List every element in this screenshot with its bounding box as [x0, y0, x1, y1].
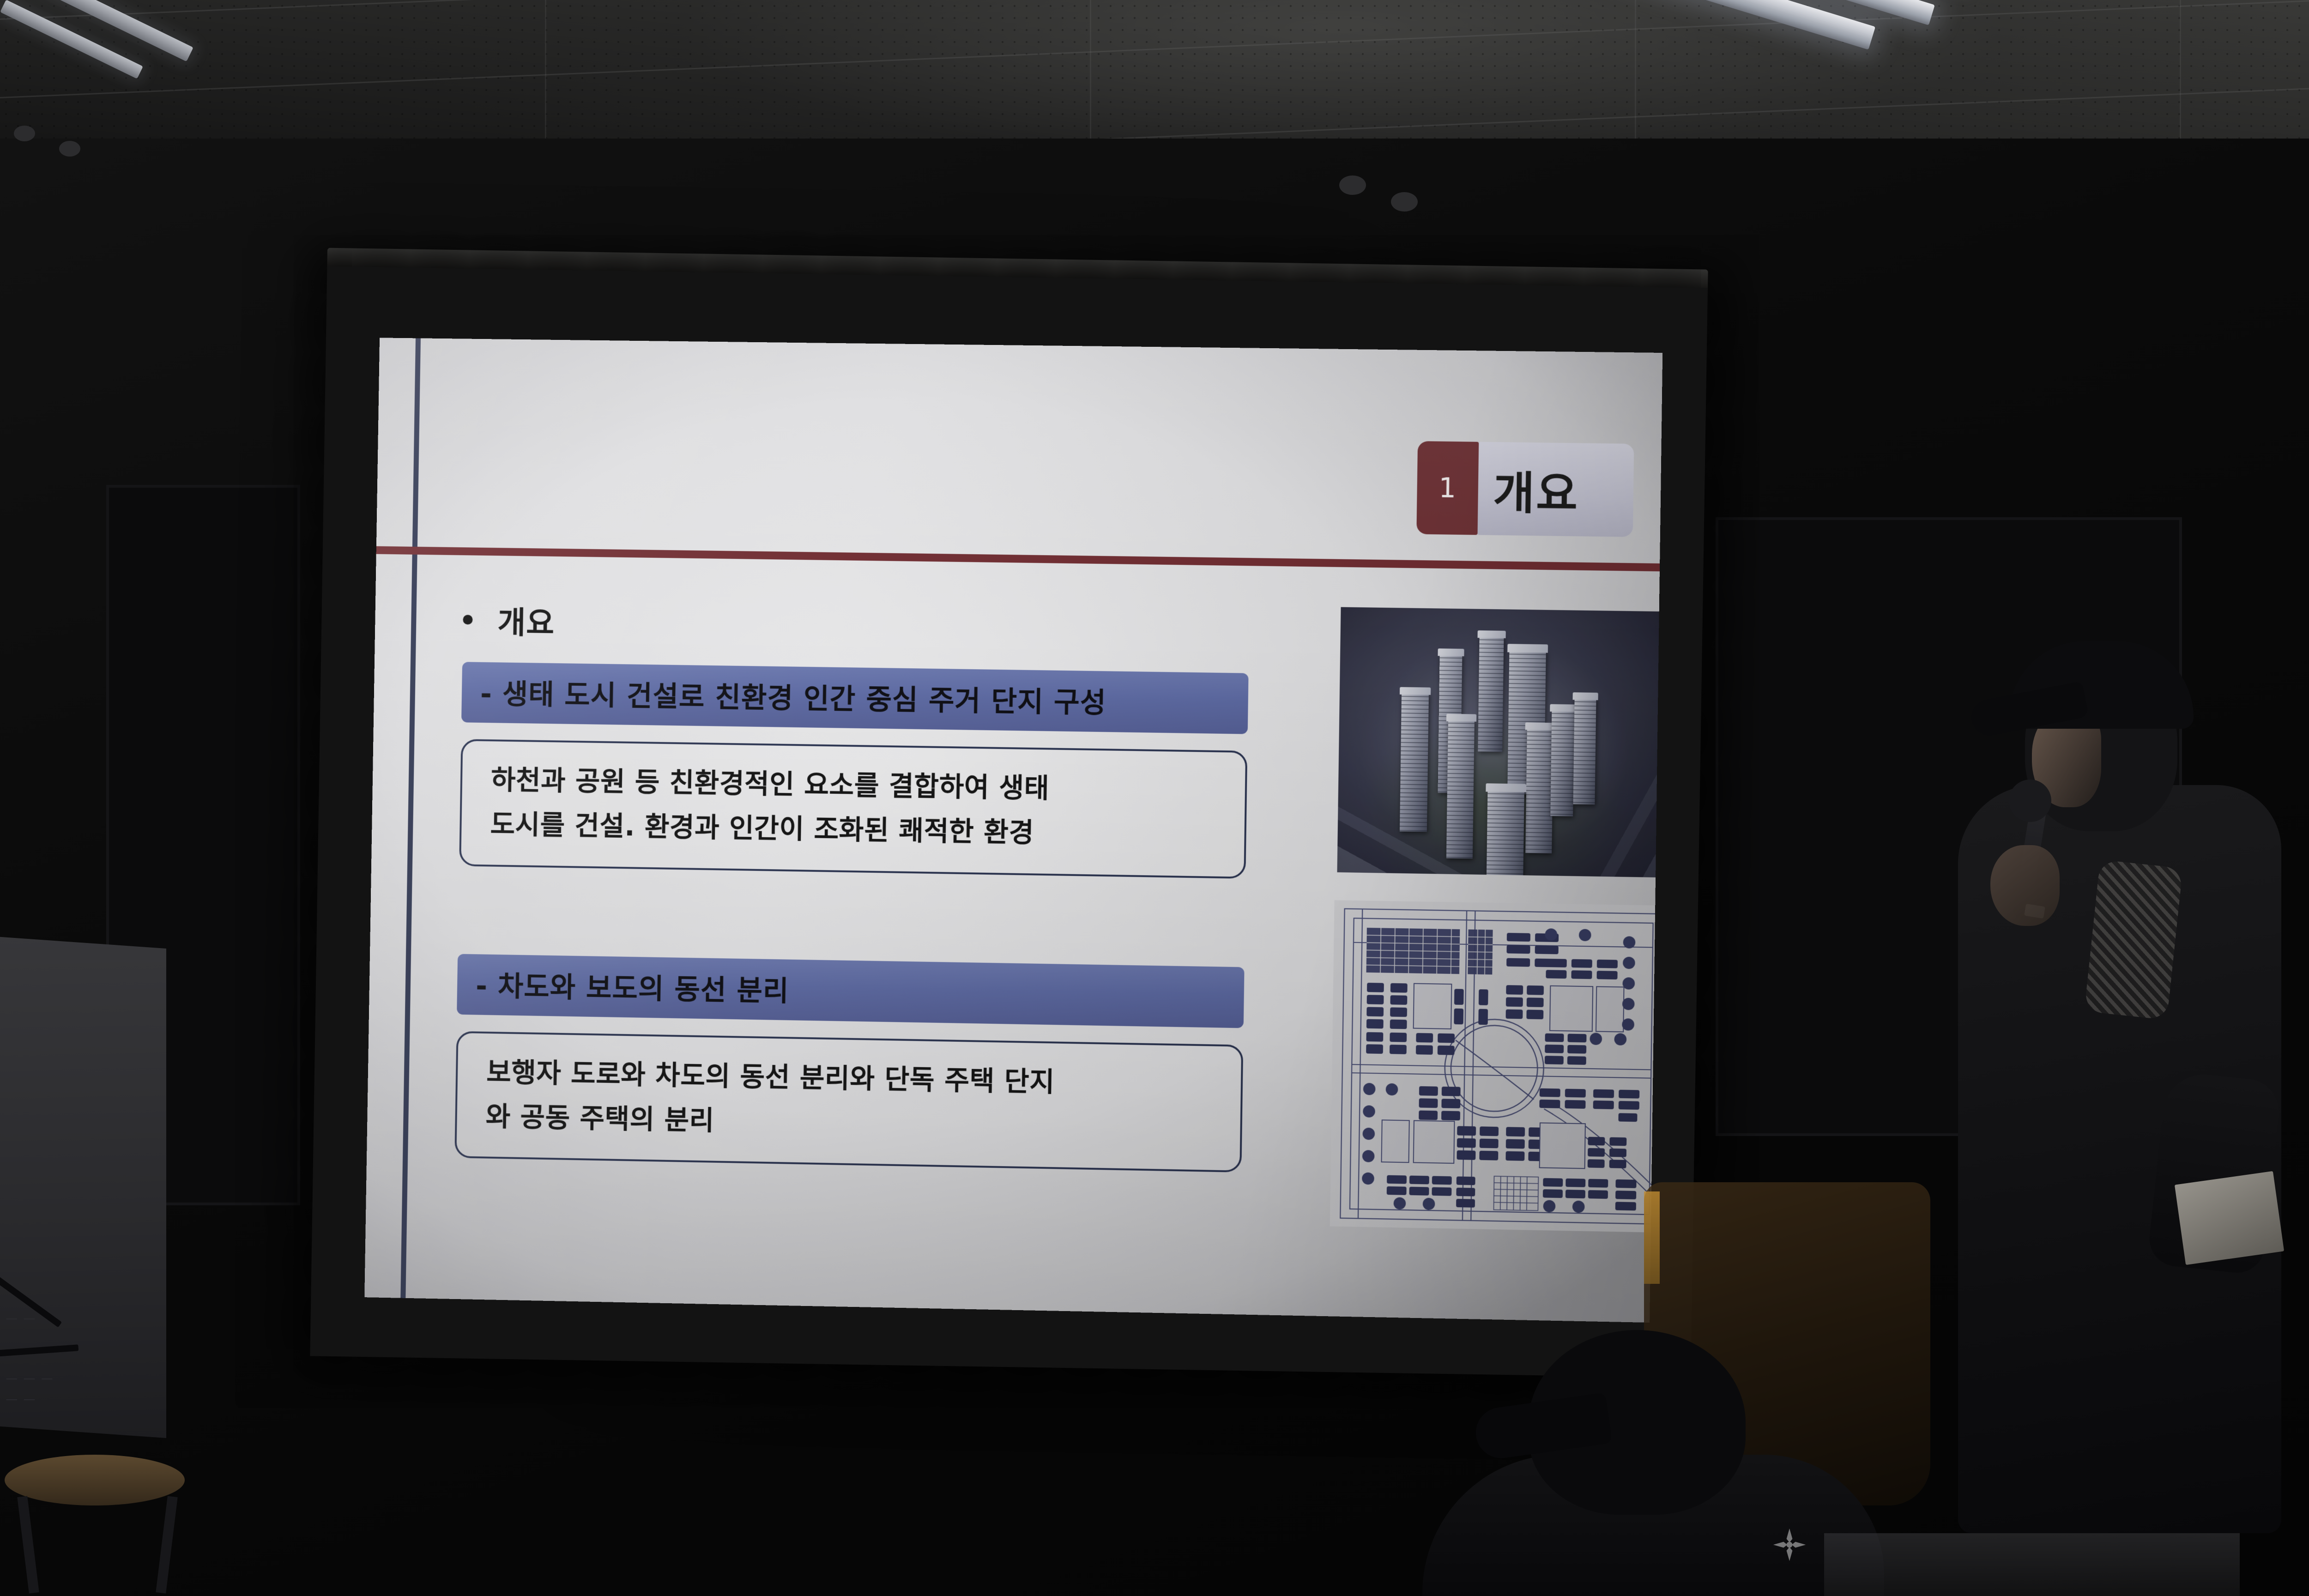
flipchart-handwriting: — — — — — [0, 1372, 54, 1385]
projected-slide: 1 개요 개요 - 생태 도시 건설로 친환경 인간 중심 주거 단지 구성 하… — [364, 338, 1662, 1323]
tube-end-cap — [14, 126, 35, 141]
presenter-hand — [1990, 845, 2060, 926]
section-banner: - 차도와 보도의 동선 분리 — [457, 954, 1244, 1028]
section-banner: - 생태 도시 건설로 친환경 인간 중심 주거 단지 구성 — [461, 662, 1249, 734]
screen-frame: 1 개요 개요 - 생태 도시 건설로 친환경 인간 중심 주거 단지 구성 하… — [310, 266, 1708, 1378]
section-textbox: 보행자 도로와 차도의 동선 분리와 단독 주택 단지 와 공동 주택의 분리 — [454, 1031, 1243, 1173]
stool — [5, 1455, 185, 1596]
site-plan-drawing — [1330, 900, 1663, 1233]
stool-leg — [156, 1496, 177, 1593]
page-title: 개요 — [1477, 442, 1634, 537]
slide-section: - 생태 도시 건설로 친환경 인간 중심 주거 단지 구성 하천과 공원 등 … — [459, 662, 1248, 878]
foreground-table — [1824, 1533, 2240, 1596]
flipchart-handwriting: — — — — [0, 1392, 36, 1406]
audience-person — [1422, 1302, 1884, 1596]
section-text-line: 도시를 건설. 환경과 인간이 조화된 쾌적한 환경 — [490, 805, 1222, 855]
presenter-person — [1940, 586, 2309, 1533]
presenter-scarf — [2084, 859, 2183, 1020]
slide-title-badge: 1 개요 — [1416, 441, 1634, 537]
bullet-dot-icon — [463, 615, 472, 624]
chair-edge-highlight — [1644, 1191, 1660, 1284]
section-text-line: 하천과 공원 등 친환경적인 요소를 결합하여 생태 — [491, 761, 1223, 810]
microphone-head — [2009, 780, 2051, 822]
projection-screen: 1 개요 개요 - 생태 도시 건설로 친환경 인간 중심 주거 단지 구성 하… — [310, 248, 1708, 1378]
stool-seat — [5, 1455, 185, 1505]
section-text-line: 와 공동 주택의 분리 — [485, 1097, 1218, 1149]
slide-vertical-accent-line — [400, 338, 421, 1298]
section-textbox: 하천과 공원 등 친환경적인 요소를 결합하여 생태 도시를 건설. 환경과 인… — [459, 739, 1247, 878]
slide-section-number: 1 — [1416, 441, 1479, 535]
shoulder-logo-icon — [1771, 1526, 1808, 1563]
tube-end-cap — [1391, 192, 1418, 212]
tube-end-cap — [59, 141, 80, 157]
slide-section: - 차도와 보도의 동선 분리 보행자 도로와 차도의 동선 분리와 단독 주택… — [454, 954, 1244, 1173]
room-scene: 1 개요 개요 - 생태 도시 건설로 친환경 인간 중심 주거 단지 구성 하… — [0, 0, 2309, 1596]
tube-end-cap — [1339, 175, 1366, 195]
section-text-line: 보행자 도로와 차도의 동선 분리와 단독 주택 단지 — [486, 1053, 1219, 1104]
apartment-render-image — [1337, 607, 1662, 878]
presenter-handout-paper — [2175, 1171, 2284, 1265]
flipchart-sheet — [0, 936, 166, 1438]
bullet-heading-label: 개요 — [497, 598, 555, 643]
stool-leg — [17, 1496, 39, 1593]
flipchart-handwriting: — — — — [0, 1312, 36, 1325]
site-plan-image — [1330, 900, 1663, 1233]
slide-horizontal-divider — [376, 546, 1660, 572]
flipchart-easel: — — — — — — — — — — — [0, 942, 180, 1487]
